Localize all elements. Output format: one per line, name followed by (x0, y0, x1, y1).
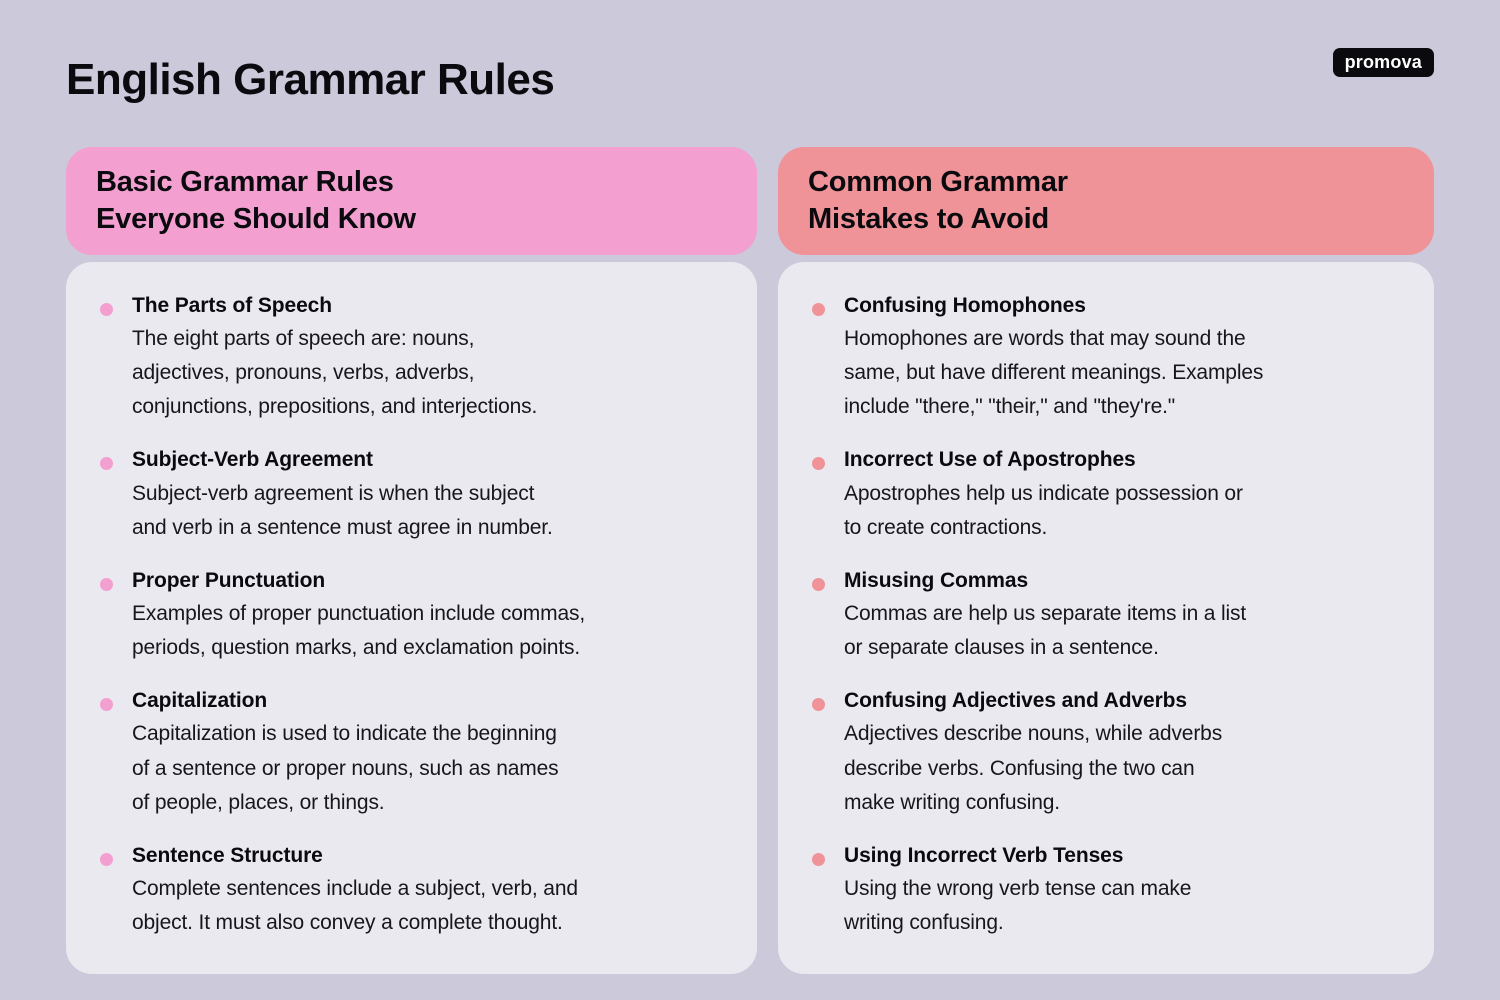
list-item-title: Capitalization (132, 687, 729, 715)
list-item-title: Sentence Structure (132, 842, 729, 870)
page-title: English Grammar Rules (66, 56, 554, 104)
bullet-dot-icon (100, 303, 113, 316)
column-header-basic-grammar-rules: Basic Grammar Rules Everyone Should Know (66, 147, 757, 255)
bullet-dot-icon (812, 853, 825, 866)
list-item-title: Misusing Commas (844, 567, 1406, 595)
bullet-dot-icon (812, 698, 825, 711)
list-item: Using Incorrect Verb Tenses Using the wr… (808, 842, 1406, 940)
columns-container: Basic Grammar Rules Everyone Should Know… (66, 147, 1434, 959)
column-heading-text: Common Grammar Mistakes to Avoid (808, 164, 1068, 238)
list-item-title: Using Incorrect Verb Tenses (844, 842, 1406, 870)
list-item-description: Homophones are words that may sound the … (844, 322, 1406, 424)
list-item-title: Confusing Adjectives and Adverbs (844, 687, 1406, 715)
list-item-description: The eight parts of speech are: nouns, ad… (132, 322, 729, 424)
list-item: Subject-Verb Agreement Subject-verb agre… (96, 446, 729, 544)
list-item: The Parts of Speech The eight parts of s… (96, 292, 729, 424)
infographic-page: English Grammar Rules promova Basic Gram… (0, 0, 1500, 1000)
list-item-description: Commas are help us separate items in a l… (844, 597, 1406, 665)
promova-logo: promova (1333, 48, 1434, 77)
bullet-dot-icon (100, 578, 113, 591)
list-item-title: Confusing Homophones (844, 292, 1406, 320)
column-header-common-grammar-mistakes: Common Grammar Mistakes to Avoid (778, 147, 1434, 255)
column-heading-text: Basic Grammar Rules Everyone Should Know (96, 164, 416, 238)
column-body-common-grammar-mistakes: Confusing Homophones Homophones are word… (778, 262, 1434, 974)
bullet-dot-icon (100, 698, 113, 711)
list-item: Misusing Commas Commas are help us separ… (808, 567, 1406, 665)
column-common-grammar-mistakes: Common Grammar Mistakes to Avoid Confusi… (778, 147, 1434, 959)
list-item-description: Examples of proper punctuation include c… (132, 597, 729, 665)
list-item-title: The Parts of Speech (132, 292, 729, 320)
bullet-dot-icon (812, 303, 825, 316)
list-item: Capitalization Capitalization is used to… (96, 687, 729, 819)
bullet-dot-icon (100, 853, 113, 866)
list-item: Proper Punctuation Examples of proper pu… (96, 567, 729, 665)
list-item-description: Capitalization is used to indicate the b… (132, 717, 729, 819)
list-item-description: Using the wrong verb tense can make writ… (844, 872, 1406, 940)
list-item-title: Proper Punctuation (132, 567, 729, 595)
column-body-basic-grammar-rules: The Parts of Speech The eight parts of s… (66, 262, 757, 974)
list-item-description: Adjectives describe nouns, while adverbs… (844, 717, 1406, 819)
list-item-description: Apostrophes help us indicate possession … (844, 477, 1406, 545)
list-item: Incorrect Use of Apostrophes Apostrophes… (808, 446, 1406, 544)
bullet-dot-icon (812, 457, 825, 470)
list-item-title: Incorrect Use of Apostrophes (844, 446, 1406, 474)
list-item-description: Subject-verb agreement is when the subje… (132, 477, 729, 545)
bullet-dot-icon (100, 457, 113, 470)
list-item-description: Complete sentences include a subject, ve… (132, 872, 729, 940)
bullet-dot-icon (812, 578, 825, 591)
list-item: Confusing Adjectives and Adverbs Adjecti… (808, 687, 1406, 819)
list-item: Confusing Homophones Homophones are word… (808, 292, 1406, 424)
list-item-title: Subject-Verb Agreement (132, 446, 729, 474)
list-item: Sentence Structure Complete sentences in… (96, 842, 729, 940)
column-basic-grammar-rules: Basic Grammar Rules Everyone Should Know… (66, 147, 757, 959)
